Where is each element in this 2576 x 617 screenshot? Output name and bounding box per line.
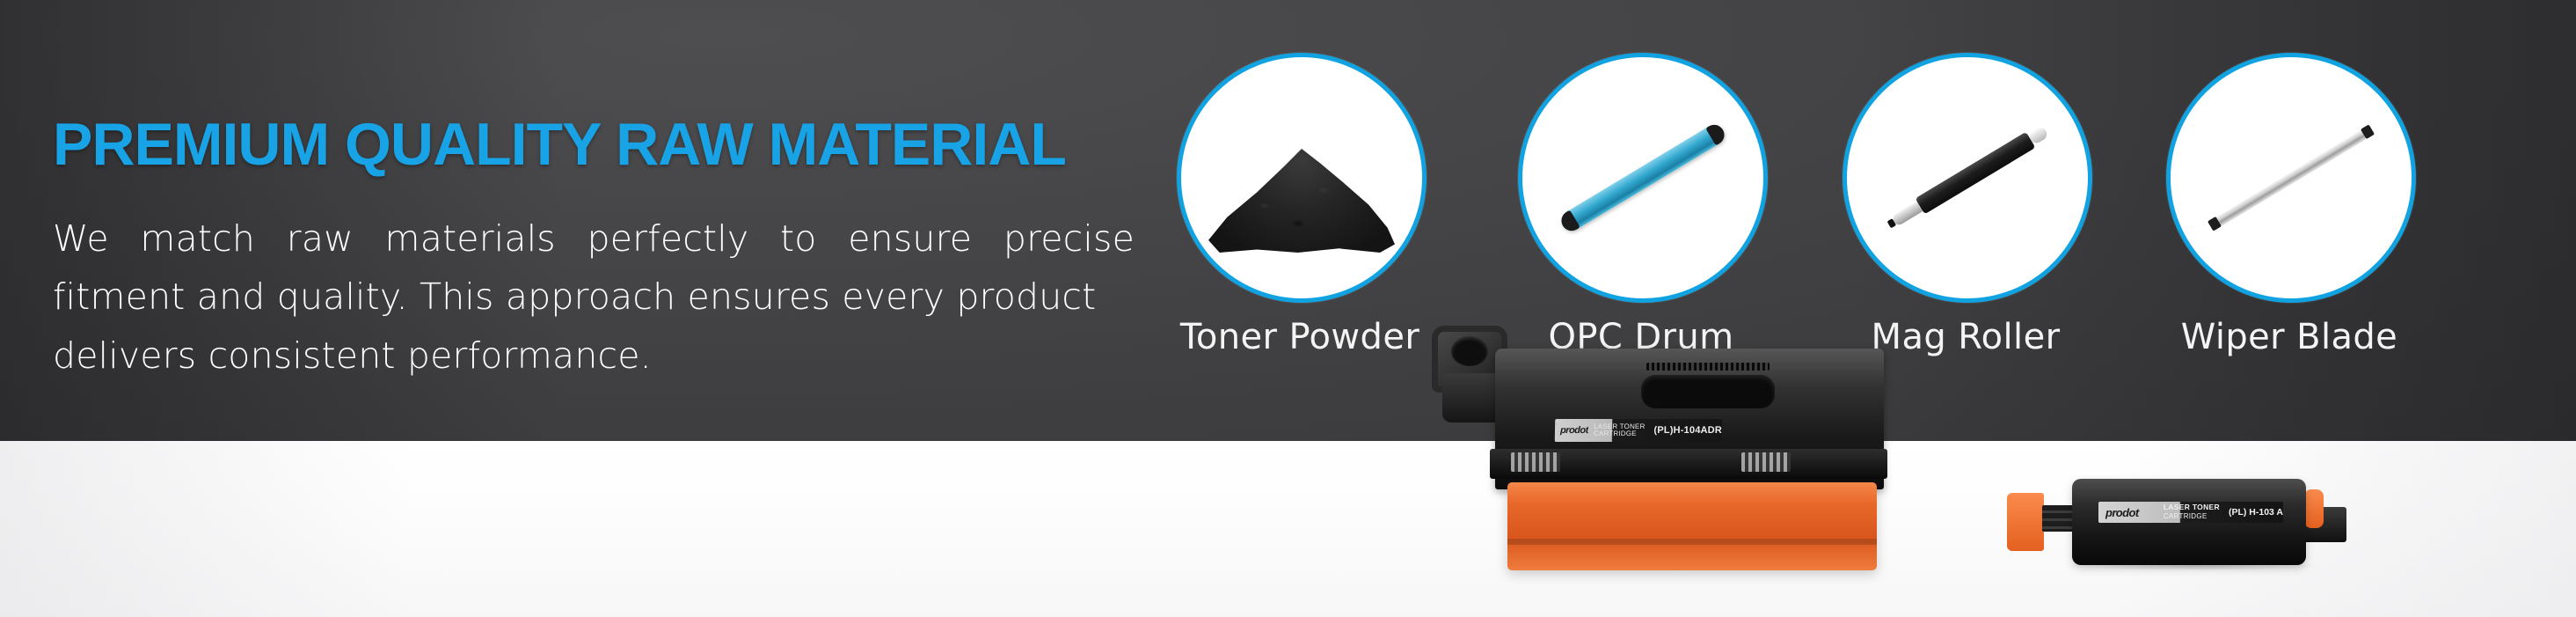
cartridge-end-cap-left <box>2007 493 2044 551</box>
cartridge-end-cap-right <box>2304 489 2324 528</box>
material-item-wiper-blade[interactable]: Wiper Blade <box>2166 53 2412 357</box>
material-label: Wiper Blade <box>2166 317 2412 357</box>
large-toner-cartridge-image: prodot LASER TONER CARTRIDGE (PL)H-104AD… <box>1427 319 1884 617</box>
material-circle <box>2166 53 2416 303</box>
banner-copy: PREMIUM QUALITY RAW MATERIAL We match ra… <box>53 114 1135 385</box>
cartridge-contacts-right <box>1741 452 1791 472</box>
cartridge-brand: prodot <box>2098 506 2158 519</box>
cartridge-part-number: (PL) H-103 A <box>2220 507 2283 518</box>
material-item-opc-drum[interactable]: OPC Drum <box>1518 53 1764 357</box>
paragraph-line-2: fitment and quality. This approach ensur… <box>53 268 1135 326</box>
paragraph-line-1: We match raw materials perfectly to ensu… <box>53 209 1135 268</box>
opc-drum-icon <box>1522 57 1763 298</box>
cartridge-brand: prodot <box>1555 425 1588 436</box>
material-item-toner-powder[interactable]: Toner Powder <box>1177 53 1423 357</box>
wiper-blade-icon <box>2171 57 2412 298</box>
banner-headline: PREMIUM QUALITY RAW MATERIAL <box>53 114 1135 174</box>
cartridge-type: LASER TONER CARTRIDGE <box>2158 503 2220 520</box>
cartridge-type-line-2: CARTRIDGE <box>2164 512 2207 520</box>
material-item-mag-roller[interactable]: Mag Roller <box>1843 53 2089 357</box>
cartridge-handle <box>1641 375 1775 408</box>
material-circle <box>1177 53 1427 303</box>
cartridge-type-line-2: CARTRIDGE <box>1594 430 1637 437</box>
material-circle <box>1518 53 1768 303</box>
cartridge-part-number: (PL)H-104ADR <box>1645 425 1722 436</box>
banner-paragraph: We match raw materials perfectly to ensu… <box>53 209 1135 385</box>
cartridge-contacts-left <box>1511 452 1560 472</box>
cartridge-vent <box>1646 363 1770 371</box>
cartridge-orange-base <box>1507 482 1877 570</box>
small-toner-cartridge-image: prodot LASER TONER CARTRIDGE (PL) H-103 … <box>1968 466 2346 585</box>
materials-list: Toner Powder OPC Drum Mag Roller <box>1177 53 2470 361</box>
cartridge-type-line-1: LASER TONER <box>2164 503 2220 511</box>
material-label: Toner Powder <box>1177 317 1423 357</box>
paragraph-line-3: delivers consistent performance. <box>53 327 1135 385</box>
cartridge-label: prodot LASER TONER CARTRIDGE (PL) H-103 … <box>2098 502 2283 523</box>
cartridge-type: LASER TONER CARTRIDGE <box>1588 423 1646 438</box>
material-circle <box>1843 53 2092 303</box>
banner-stage: PREMIUM QUALITY RAW MATERIAL We match ra… <box>0 0 2576 617</box>
mag-roller-icon <box>1847 57 2088 298</box>
toner-powder-icon <box>1181 57 1422 298</box>
cartridge-label: prodot LASER TONER CARTRIDGE (PL)H-104AD… <box>1555 419 1722 442</box>
